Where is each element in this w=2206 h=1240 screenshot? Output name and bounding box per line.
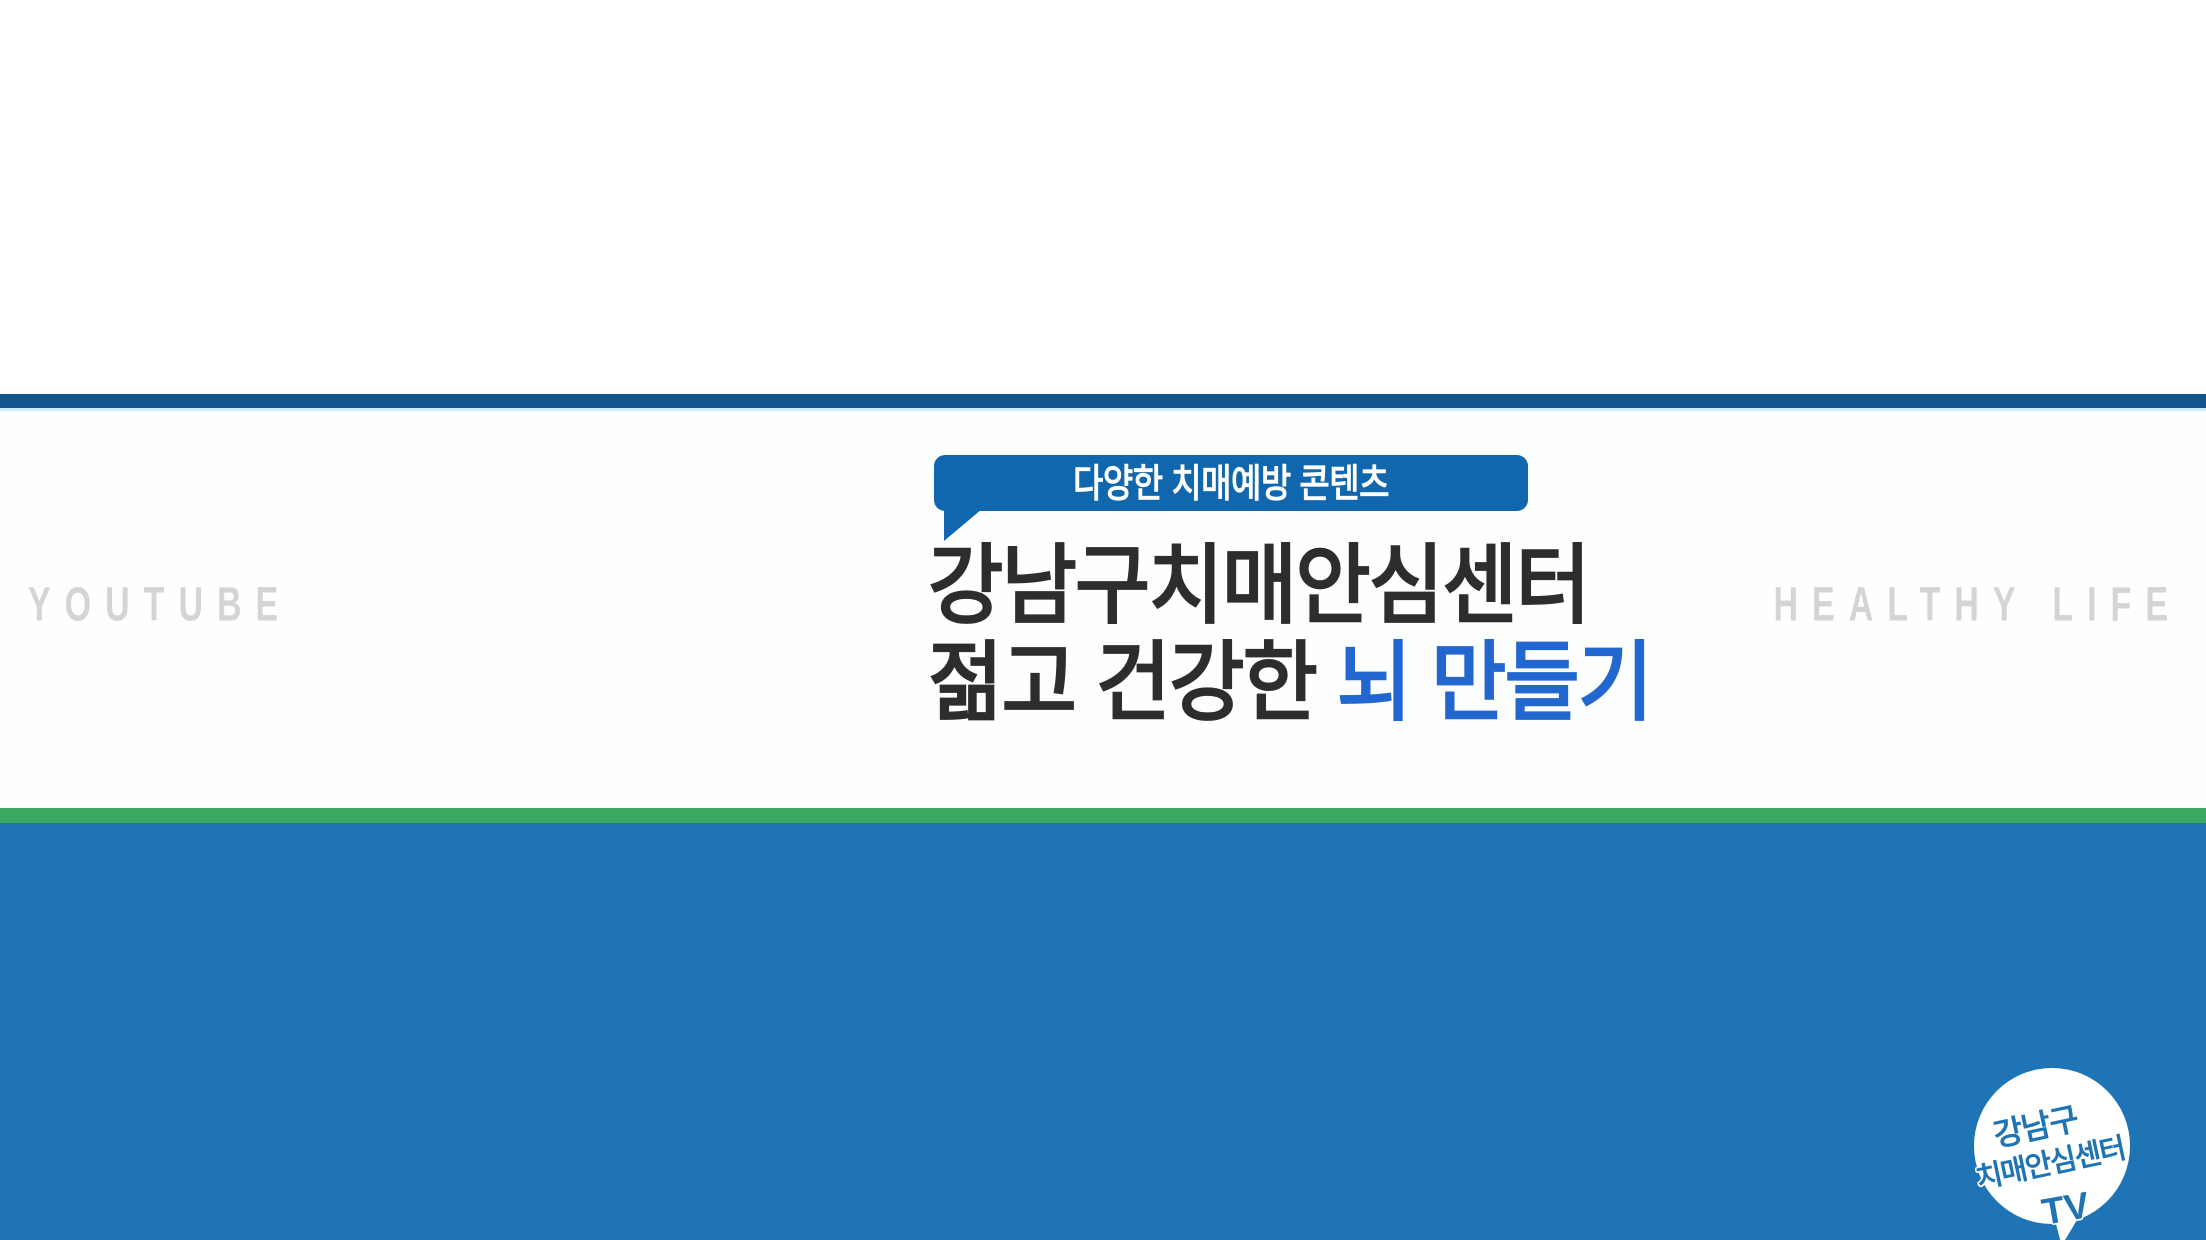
headline-line-1: 강남구치매안심센터 — [928, 536, 1928, 639]
logo-text-group: 강남구 치매안심센터 TV — [1966, 1068, 2142, 1240]
top-blank-area — [0, 0, 2206, 394]
navy-divider — [0, 394, 2206, 408]
headline-line-2-plain: 젊고 건강한 — [928, 635, 1337, 731]
badge-body: 다양한 치매예방 콘텐츠 — [934, 455, 1528, 511]
headline-block: 강남구치매안심센터 젊고 건강한 뇌 만들기 — [928, 536, 1928, 730]
bottom-blue-panel — [0, 823, 2206, 1240]
thumbnail-canvas: YOUTUBE HEALTHY LIFE 다양한 치매예방 콘텐츠 강남구치매안… — [0, 0, 2206, 1240]
category-badge: 다양한 치매예방 콘텐츠 — [934, 455, 1528, 511]
logo-line-tv: TV — [2039, 1186, 2092, 1231]
side-word-youtube: YOUTUBE — [28, 581, 292, 629]
channel-logo: 강남구 치매안심센터 TV — [1966, 1068, 2142, 1240]
green-divider — [0, 808, 2206, 823]
headline-line-2: 젊고 건강한 뇌 만들기 — [928, 633, 1928, 736]
headline-line-2-accent: 뇌 만들기 — [1337, 635, 1652, 731]
badge-label: 다양한 치매예방 콘텐츠 — [1073, 464, 1389, 503]
